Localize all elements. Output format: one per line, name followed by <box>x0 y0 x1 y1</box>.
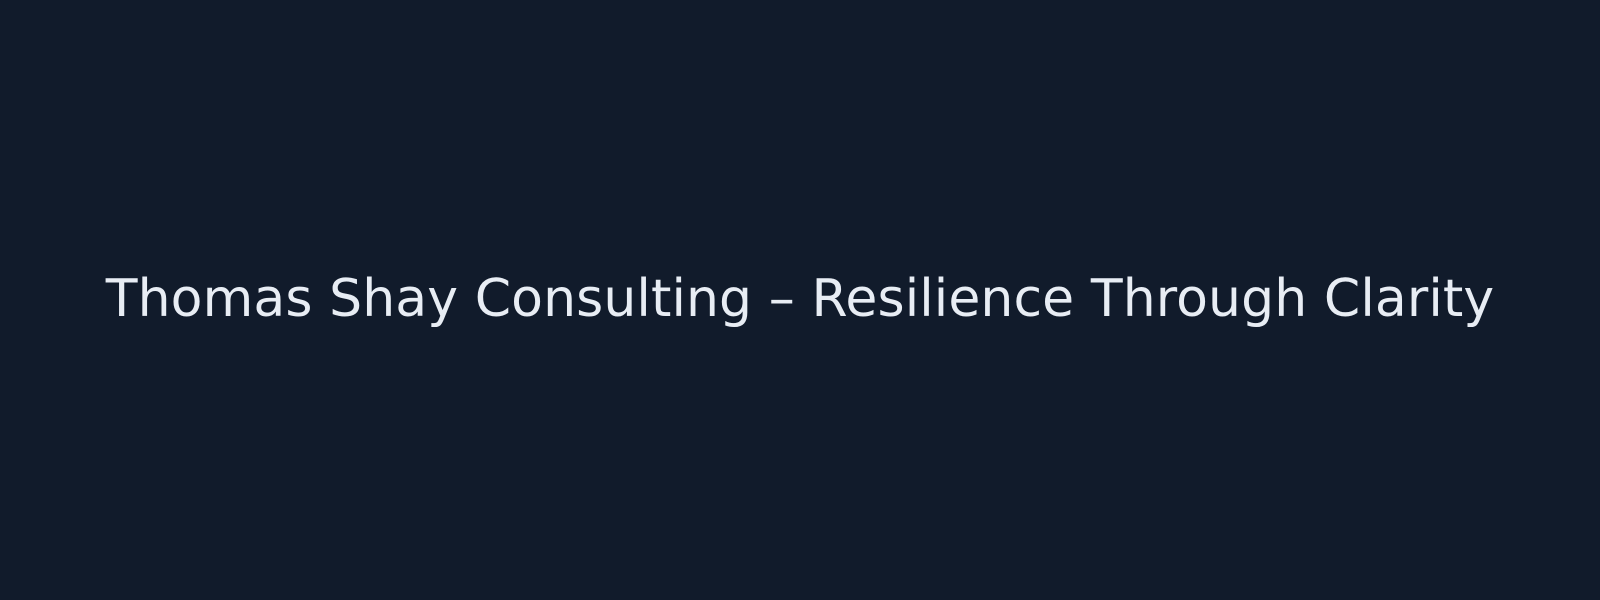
hero-slide: Thomas Shay Consulting – Resilience Thro… <box>0 0 1600 600</box>
hero-headline: Thomas Shay Consulting – Resilience Thro… <box>106 270 1494 330</box>
